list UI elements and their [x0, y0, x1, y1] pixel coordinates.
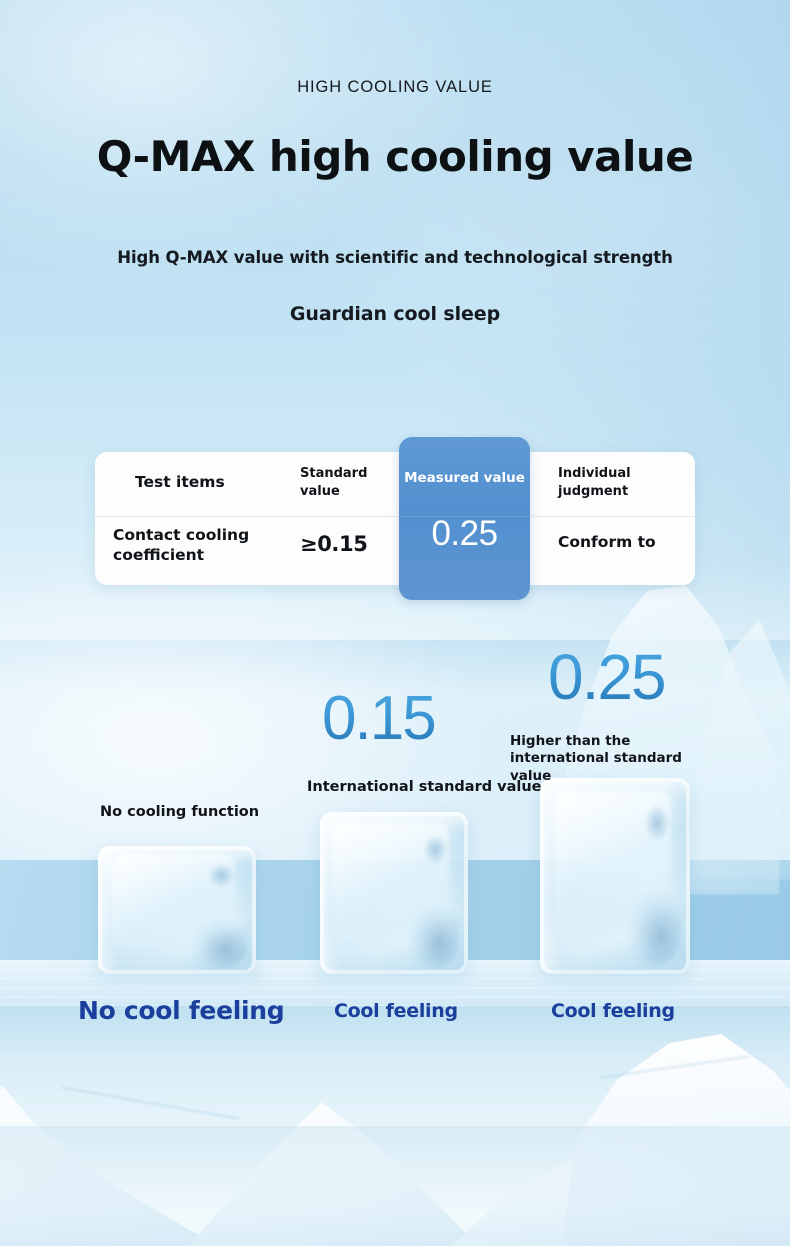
ice-cube-large [540, 778, 690, 974]
snow-shadow-overlay [0, 1126, 790, 1246]
ice-cube-highlight [209, 864, 234, 887]
measured-value-highlight-column: Measured value 0.25 [399, 437, 530, 600]
comparison-caption-large: Higher than the international standard v… [510, 733, 720, 785]
product-feature-banner: HIGH COOLING VALUE Q-MAX high cooling va… [0, 0, 790, 1246]
ice-cube-highlight [424, 835, 448, 864]
table-header-test-items: Test items [135, 473, 225, 491]
table-cell-individual-judgment: Conform to [558, 533, 656, 551]
table-cell-measured-value: 0.25 [399, 514, 530, 554]
comparison-feeling-large: Cool feeling [551, 1000, 675, 1022]
spec-table-card: Test items Standard value Individual jud… [95, 452, 695, 585]
comparison-value-medium: 0.15 [322, 688, 435, 750]
ice-cube-reflection [320, 974, 468, 1002]
snow-ridge-line [61, 1086, 239, 1119]
table-row-divider [95, 516, 695, 517]
ice-cube-highlight [645, 805, 669, 840]
eyebrow-label: HIGH COOLING VALUE [0, 78, 790, 97]
comparison-caption-medium: International standard value [307, 778, 542, 797]
table-header-standard-value: Standard value [300, 465, 395, 500]
ice-cube-medium [320, 812, 468, 974]
comparison-feeling-medium: Cool feeling [334, 1000, 458, 1022]
ice-cube-reflection [540, 974, 690, 1002]
table-header-measured-value: Measured value [399, 470, 530, 486]
comparison-feeling-small: No cool feeling [78, 996, 284, 1025]
snow-landscape [0, 1006, 790, 1246]
comparison-value-large: 0.25 [548, 645, 665, 709]
ice-cube-small [98, 846, 256, 974]
table-cell-standard-value: ≥0.15 [300, 532, 367, 556]
subtitle-primary: High Q-MAX value with scientific and tec… [0, 248, 790, 267]
table-header-individual-judgment: Individual judgment [558, 465, 653, 500]
page-title: Q-MAX high cooling value [0, 132, 790, 181]
subtitle-secondary: Guardian cool sleep [0, 303, 790, 325]
table-cell-test-items: Contact cooling coefficient [113, 526, 288, 566]
comparison-caption-small: No cooling function [100, 803, 259, 822]
